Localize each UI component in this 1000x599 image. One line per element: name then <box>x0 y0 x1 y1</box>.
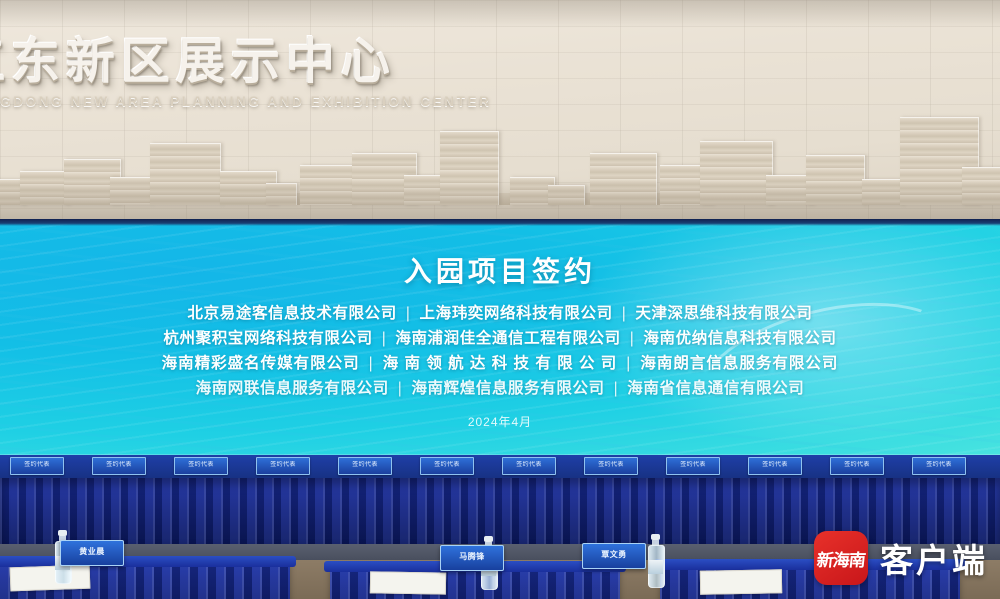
company-name: 杭州聚积宝网络科技有限公司 <box>163 330 372 347</box>
foreground-nameplate-1-label: 黄业晨 <box>61 546 123 557</box>
foreground-nameplate-3: 覃文勇 <box>582 543 646 569</box>
foreground-nameplate-1: 黄业晨 <box>60 540 124 566</box>
head-table-nameplate-label: 签约代表 <box>421 461 473 469</box>
bottle-label-right <box>648 560 663 574</box>
venue-sign-english: JIANGDONG NEW AREA PLANNING AND EXHIBITI… <box>0 94 491 109</box>
xinhainan-logo-text: 新海南 <box>816 546 867 571</box>
company-separator: | <box>373 330 396 347</box>
head-table-nameplate: 签约代表 <box>10 457 64 475</box>
wall-top-shadow <box>0 0 1000 28</box>
foreground-nameplate-3-label: 覃文勇 <box>583 549 645 560</box>
head-table-nameplate: 签约代表 <box>256 457 310 475</box>
head-table-nameplate-label: 签约代表 <box>749 461 801 469</box>
company-name: 海南浦润佳全通信工程有限公司 <box>395 330 620 347</box>
head-table-nameplate-label: 签约代表 <box>831 461 883 469</box>
foreground-nameplate-2-label: 马腾锋 <box>441 551 503 562</box>
company-name: 上海玮奕网络科技有限公司 <box>420 305 613 322</box>
company-separator: | <box>397 305 420 322</box>
head-table-nameplate-label: 签约代表 <box>11 461 63 469</box>
desk-paper-center <box>370 571 446 594</box>
head-table-nameplate-label: 签约代表 <box>93 461 145 469</box>
foreground-nameplate-2: 马腾锋 <box>440 545 504 571</box>
head-table-nameplate-label: 签约代表 <box>339 461 391 469</box>
head-table-nameplate: 签约代表 <box>666 457 720 475</box>
company-separator: | <box>621 330 644 347</box>
company-name: 北京易途客信息技术有限公司 <box>188 305 397 322</box>
watermark-label: 客户端 <box>880 534 988 582</box>
photo-scene: 江东新区展示中心 JIANGDONG NEW AREA PLANNING AND… <box>0 0 1000 599</box>
head-table-nameplate-label: 签约代表 <box>667 461 719 469</box>
head-table-nameplate: 签约代表 <box>420 457 474 475</box>
head-table-nameplate-label: 签约代表 <box>503 461 555 469</box>
head-table-nameplate-label: 签约代表 <box>585 461 637 469</box>
head-table-nameplate: 签约代表 <box>502 457 556 475</box>
company-name: 天津深思维科技有限公司 <box>635 305 812 322</box>
news-watermark: 新海南 客户端 <box>814 531 988 585</box>
screen-top-bezel <box>0 219 1000 226</box>
head-table-nameplate-label: 签约代表 <box>257 461 309 469</box>
desk-paper-right <box>700 569 782 594</box>
head-table-nameplate: 签约代表 <box>584 457 638 475</box>
head-table-nameplate: 签约代表 <box>748 457 802 475</box>
company-row: 杭州聚积宝网络科技有限公司|海南浦润佳全通信工程有限公司|海南优纳信息科技有限公… <box>0 326 1000 351</box>
head-table-nameplate: 签约代表 <box>92 457 146 475</box>
water-bottle-right <box>648 534 663 586</box>
head-table-nameplate-label: 签约代表 <box>175 461 227 469</box>
company-separator: | <box>613 305 636 322</box>
desk-paper-left <box>10 565 91 592</box>
head-table-nameplate-label: 签约代表 <box>913 461 965 469</box>
head-table-nameplate: 签约代表 <box>338 457 392 475</box>
xinhainan-logo-icon: 新海南 <box>814 531 868 585</box>
signing-ceremony-title: 入园项目签约 <box>0 250 1000 290</box>
head-table-nameplates: 签约代表签约代表签约代表签约代表签约代表签约代表签约代表签约代表签约代表签约代表… <box>0 457 1000 479</box>
company-name: 海南优纳信息科技有限公司 <box>643 330 836 347</box>
venue-sign: 江东新区展示中心 JIANGDONG NEW AREA PLANNING AND… <box>0 33 491 109</box>
company-row: 北京易途客信息技术有限公司|上海玮奕网络科技有限公司|天津深思维科技有限公司 <box>0 301 1000 326</box>
head-table-nameplate: 签约代表 <box>830 457 884 475</box>
head-table-nameplate: 签约代表 <box>174 457 228 475</box>
head-table-nameplate: 签约代表 <box>912 457 966 475</box>
wall-bottom-shadow <box>0 179 1000 219</box>
venue-sign-chinese: 江东新区展示中心 <box>0 33 491 91</box>
